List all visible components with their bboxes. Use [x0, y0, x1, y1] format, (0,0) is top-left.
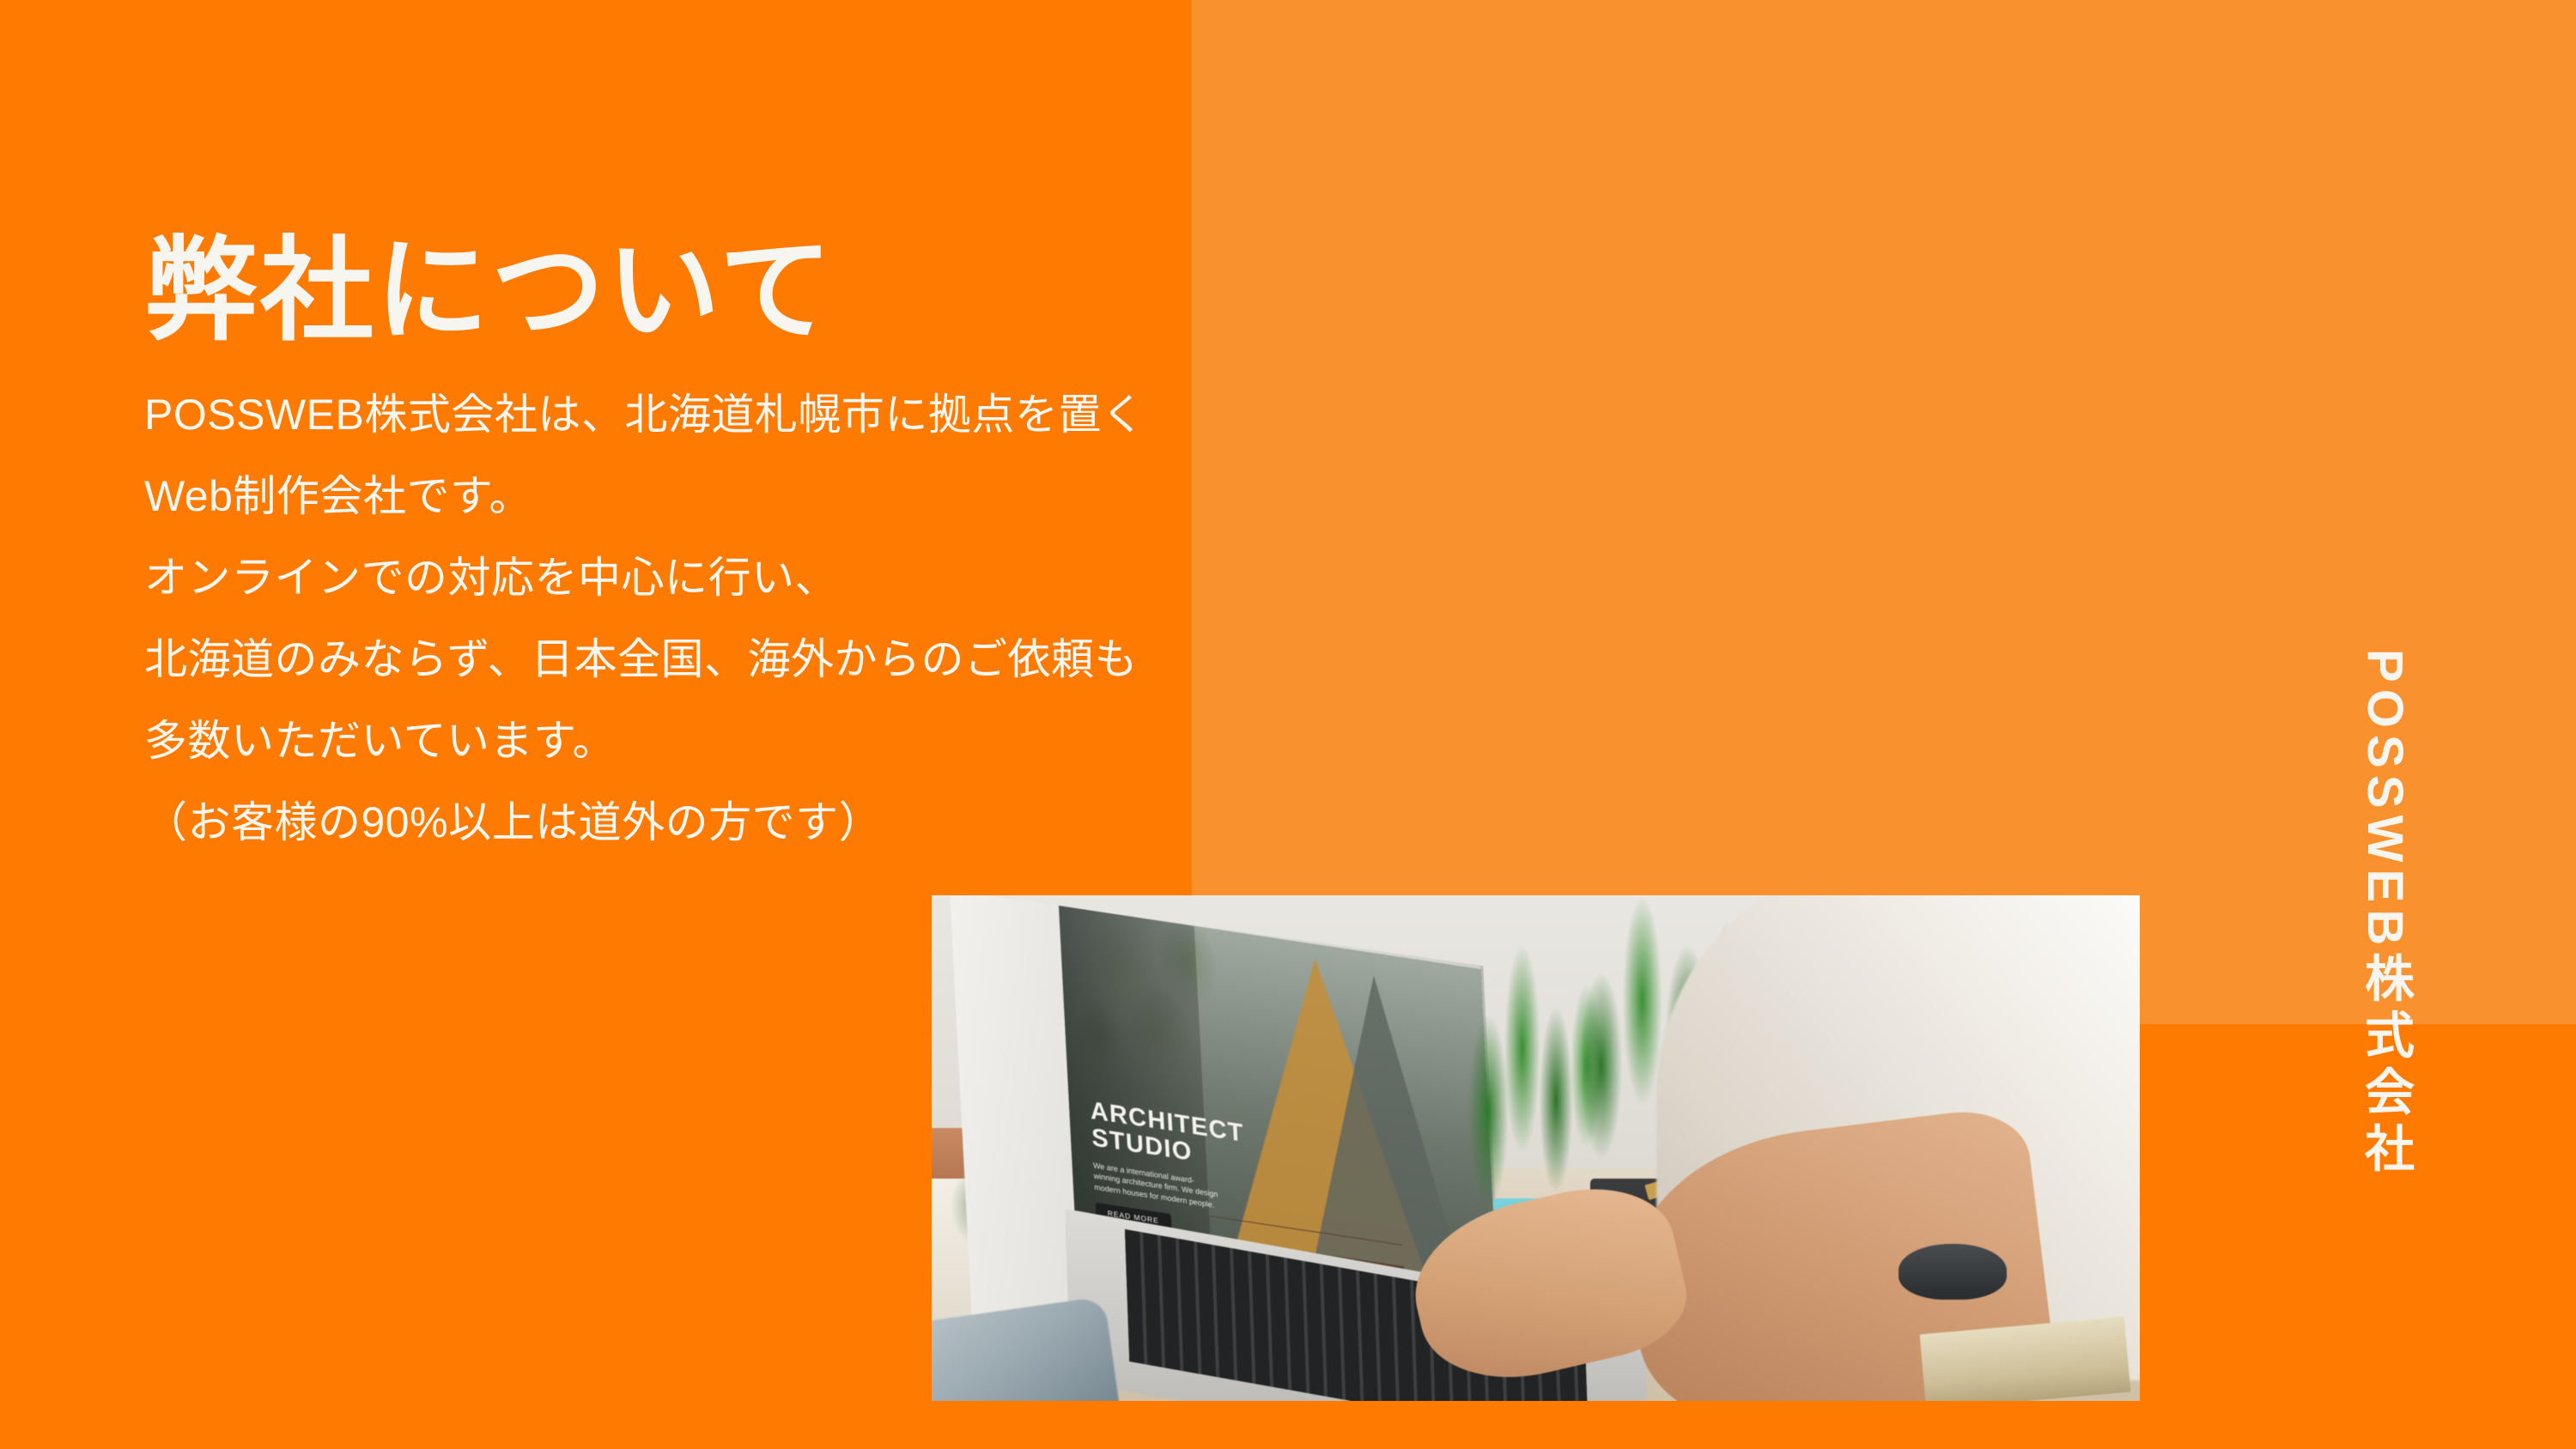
workspace-photo: ARCHITECT STUDIO We are a international …	[932, 895, 2140, 1401]
photo-inner: ARCHITECT STUDIO We are a international …	[932, 895, 2140, 1401]
body-line: （お客様の90%以上は道外の方です）	[144, 782, 1604, 864]
vertical-brand-text: POSSWEB株式会社	[2348, 649, 2421, 1179]
body-line: オンラインでの対応を中心に行い、	[144, 537, 1604, 619]
body-line: Web制作会社です。	[144, 456, 1604, 537]
body-line: 多数いただいています。	[144, 700, 1604, 782]
body-copy-block: POSSWEB株式会社は、北海道札幌市に拠点を置く Web制作会社です。 オンラ…	[144, 374, 1604, 864]
page-title: 弊社について	[144, 220, 835, 361]
body-line: 北海道のみならず、日本全国、海外からのご依頼も	[144, 619, 1604, 700]
slide-root: 弊社について POSSWEB株式会社は、北海道札幌市に拠点を置く Web制作会社…	[0, 0, 2576, 1449]
photo-computer-mouse	[1899, 1244, 2008, 1300]
body-line: POSSWEB株式会社は、北海道札幌市に拠点を置く	[144, 374, 1604, 456]
